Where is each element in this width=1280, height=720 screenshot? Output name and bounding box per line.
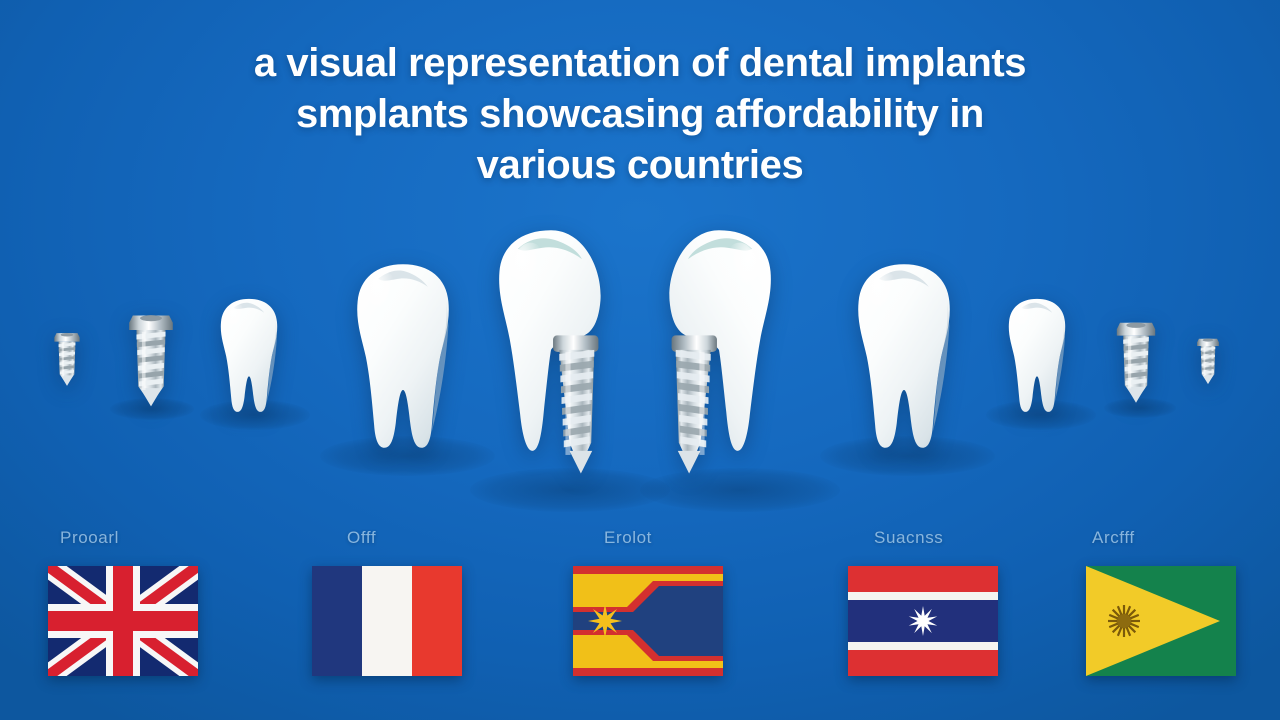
red-blue-star-flag — [848, 566, 998, 676]
large-implant-tooth-right — [638, 222, 800, 490]
france-flag — [312, 566, 462, 676]
country-label: Suacnss — [874, 528, 943, 548]
title-line-3: various countries — [0, 140, 1280, 191]
country-label: Prooarl — [60, 528, 119, 548]
country-label: Offf — [347, 528, 376, 548]
chevron-star-flag — [573, 566, 723, 676]
country-label-row: ProoarlOfffErolotSuacnssArcfff — [0, 520, 1280, 560]
country-label: Erolot — [604, 528, 652, 548]
small-tooth-right — [992, 295, 1082, 417]
medium-screw-implant-left — [120, 310, 182, 410]
country-flag-row — [0, 566, 1280, 694]
dental-implants-infographic: a visual representation of dental implan… — [0, 0, 1280, 720]
title-line-1: a visual representation of dental implan… — [0, 38, 1280, 89]
large-implant-tooth-left — [470, 222, 632, 490]
small-tooth-left — [204, 295, 294, 417]
title-line-2: smplants showcasing affordability in — [0, 89, 1280, 140]
page-title: a visual representation of dental implan… — [0, 38, 1280, 191]
medium-tooth-left — [325, 258, 481, 456]
medium-tooth-right — [826, 258, 982, 456]
small-screw-implant-left — [44, 330, 90, 388]
united-kingdom-flag — [48, 566, 198, 676]
medium-screw-implant-right — [1110, 318, 1162, 406]
green-triangle-sun-flag — [1086, 566, 1236, 676]
small-screw-implant-right — [1188, 336, 1228, 386]
country-label: Arcfff — [1092, 528, 1135, 548]
